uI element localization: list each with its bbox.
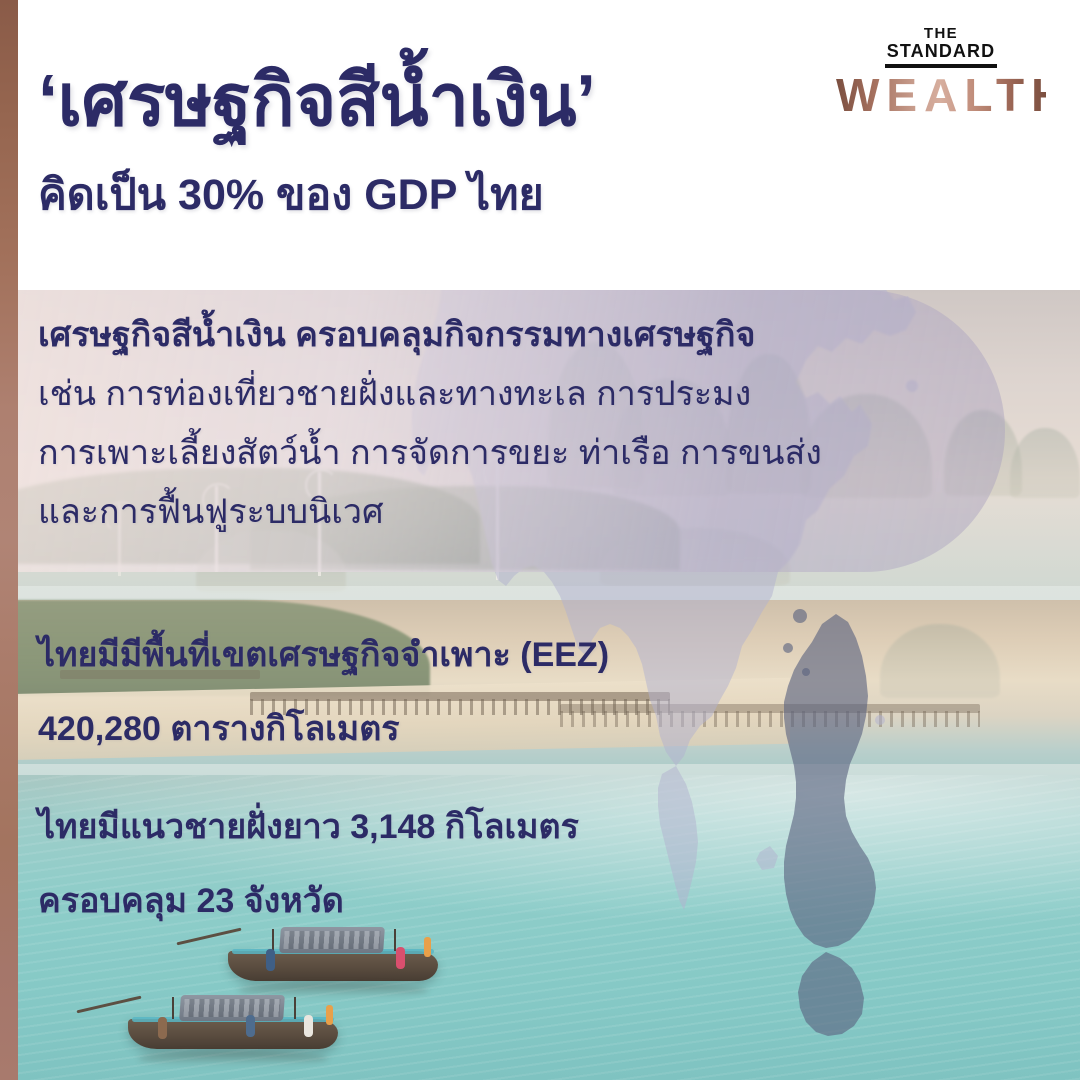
logo-underline-rule: [885, 64, 997, 68]
paragraph-line: เช่น การท่องเที่ยวชายฝั่งและทางทะเล การป…: [38, 365, 822, 424]
copper-accent-rail: [0, 0, 18, 1080]
stat-line: ไทยมีมีพื้นที่เขตเศรษฐกิจจำเพาะ (EEZ): [38, 618, 609, 692]
paragraph-line: และการฟื้นฟูระบบนิเวศ: [38, 483, 822, 542]
stat-line: 420,280 ตารางกิโลเมตร: [38, 692, 609, 766]
stat-eez-area: ไทยมีมีพื้นที่เขตเศรษฐกิจจำเพาะ (EEZ) 42…: [38, 618, 609, 766]
paragraph-blue-economy-definition: เศรษฐกิจสีน้ำเงิน ครอบคลุมกิจกรรมทางเศรษ…: [38, 306, 822, 542]
logo-the-text: THE: [836, 26, 1046, 42]
the-standard-wealth-logo[interactable]: THE STANDARD WEALTH: [836, 26, 1046, 118]
paragraph-line: เศรษฐกิจสีน้ำเงิน ครอบคลุมกิจกรรมทางเศรษ…: [38, 306, 822, 365]
infographic-canvas: ‘เศรษฐกิจสีน้ำเงิน’ คิดเป็น 30% ของ GDP …: [0, 0, 1080, 1080]
page-title: ‘เศรษฐกิจสีน้ำเงิน’: [38, 42, 596, 157]
stat-line: ครอบคลุม 23 จังหวัด: [38, 864, 579, 938]
stat-line: ไทยมีแนวชายฝั่งยาว 3,148 กิโลเมตร: [38, 790, 579, 864]
header-band: ‘เศรษฐกิจสีน้ำเงิน’ คิดเป็น 30% ของ GDP …: [0, 0, 1080, 290]
stat-coastline: ไทยมีแนวชายฝั่งยาว 3,148 กิโลเมตร ครอบคล…: [38, 790, 579, 938]
page-subtitle: คิดเป็น 30% ของ GDP ไทย: [38, 160, 544, 228]
logo-standard-text: STANDARD: [836, 42, 1046, 61]
logo-wealth-text: WEALTH: [836, 72, 1046, 118]
paragraph-line: การเพาะเลี้ยงสัตว์น้ำ การจัดการขยะ ท่าเร…: [38, 424, 822, 483]
